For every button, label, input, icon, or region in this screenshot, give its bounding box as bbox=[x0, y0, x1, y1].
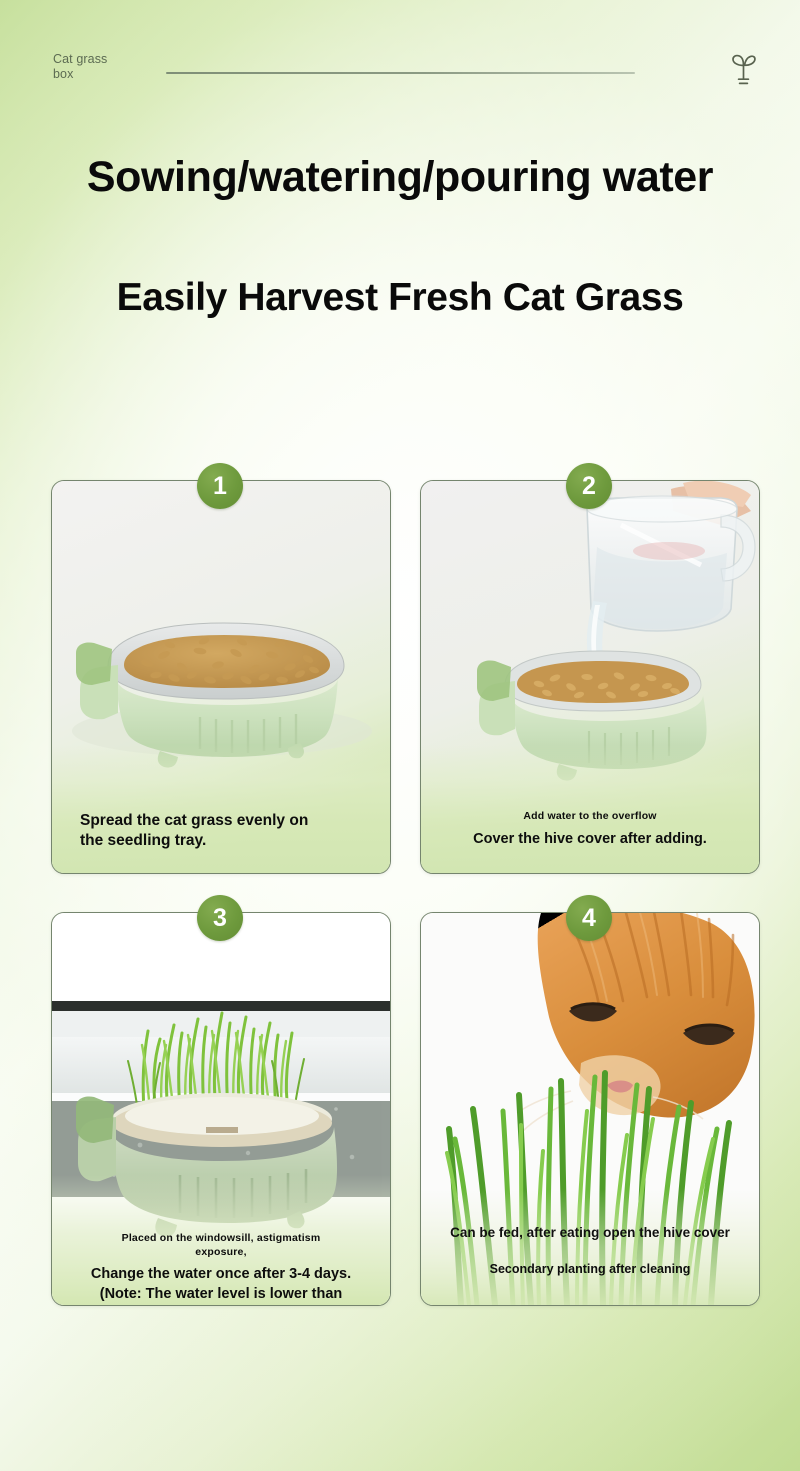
brand-label-line1: Cat grass bbox=[53, 52, 163, 67]
infographic-page: Cat grass box Sowing/watering/pouring wa… bbox=[0, 0, 800, 1471]
step-1-caption-line1: Spread the cat grass evenly on bbox=[80, 811, 362, 831]
step-4-caption-line1: Can be fed, after eating open the hive c… bbox=[421, 1225, 759, 1240]
step-3-caption-line3: Change the water once after 3-4 days. bbox=[52, 1264, 390, 1284]
sprout-icon bbox=[726, 49, 762, 89]
step-1-caption-line2: the seedling tray. bbox=[80, 831, 362, 851]
step-card-3: Placed on the windowsill, astigmatism ex… bbox=[51, 912, 391, 1306]
step-badge-4: 4 bbox=[566, 895, 612, 941]
brand-label: Cat grass box bbox=[53, 52, 163, 81]
step-badge-2: 2 bbox=[566, 463, 612, 509]
step-3-caption-line4: (Note: The water level is lower than bbox=[52, 1285, 390, 1304]
step-3-caption-line2: exposure, bbox=[52, 1245, 390, 1259]
step-2-caption-line1: Add water to the overflow bbox=[421, 809, 759, 823]
step-4-caption-line2: Secondary planting after cleaning bbox=[421, 1262, 759, 1276]
step-3-caption-line5: the nursery tray) bbox=[52, 1305, 390, 1306]
step-3-caption-line1: Placed on the windowsill, astigmatism bbox=[52, 1231, 390, 1245]
step-badge-3: 3 bbox=[197, 895, 243, 941]
step-card-4: Can be fed, after eating open the hive c… bbox=[420, 912, 760, 1306]
step-3-caption: Placed on the windowsill, astigmatism ex… bbox=[52, 1231, 390, 1306]
step-1-caption: Spread the cat grass evenly on the seedl… bbox=[52, 811, 390, 851]
caption-fade-1 bbox=[52, 745, 390, 873]
page-header: Cat grass box bbox=[0, 52, 800, 102]
step-2-caption: Add water to the overflow Cover the hive… bbox=[421, 809, 759, 849]
page-title-primary: Sowing/watering/pouring water bbox=[0, 152, 800, 202]
step-badge-1: 1 bbox=[197, 463, 243, 509]
step-card-1: Spread the cat grass evenly on the seedl… bbox=[51, 480, 391, 874]
brand-label-line2: box bbox=[53, 67, 163, 82]
step-card-2: Add water to the overflow Cover the hive… bbox=[420, 480, 760, 874]
header-divider bbox=[166, 72, 635, 74]
page-title-secondary: Easily Harvest Fresh Cat Grass bbox=[0, 274, 800, 322]
step-2-caption-line2: Cover the hive cover after adding. bbox=[421, 829, 759, 849]
step-4-caption: Can be fed, after eating open the hive c… bbox=[421, 1225, 759, 1276]
